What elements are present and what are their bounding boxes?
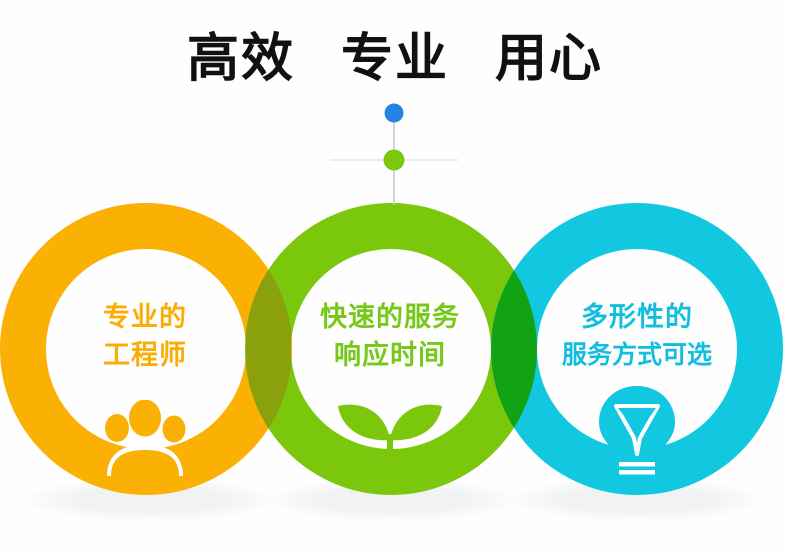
sprout-icon (334, 390, 446, 476)
icon-slot-response-time (265, 380, 515, 476)
circle-label-response-line1: 快速的服务 (265, 298, 515, 336)
circle-label-modes-line1: 多形性的 (512, 298, 762, 336)
lightbulb-icon (594, 384, 680, 476)
circle-content-service-modes: 多形性的 服务方式可选 (512, 298, 762, 476)
icon-slot-engineers (20, 380, 270, 476)
icon-slot-service-modes (512, 380, 762, 476)
circle-label-engineers-line1: 专业的 (20, 298, 270, 336)
poster-canvas: 高效专业用心 (0, 0, 790, 557)
circle-label-response-line2: 响应时间 (265, 336, 515, 374)
people-icon (91, 400, 199, 476)
circle-label-engineers-line2: 工程师 (20, 336, 270, 374)
circle-content-response-time: 快速的服务 响应时间 (265, 298, 515, 476)
circle-content-engineers: 专业的 工程师 (20, 298, 270, 476)
circle-label-modes-line2: 服务方式可选 (512, 336, 762, 374)
